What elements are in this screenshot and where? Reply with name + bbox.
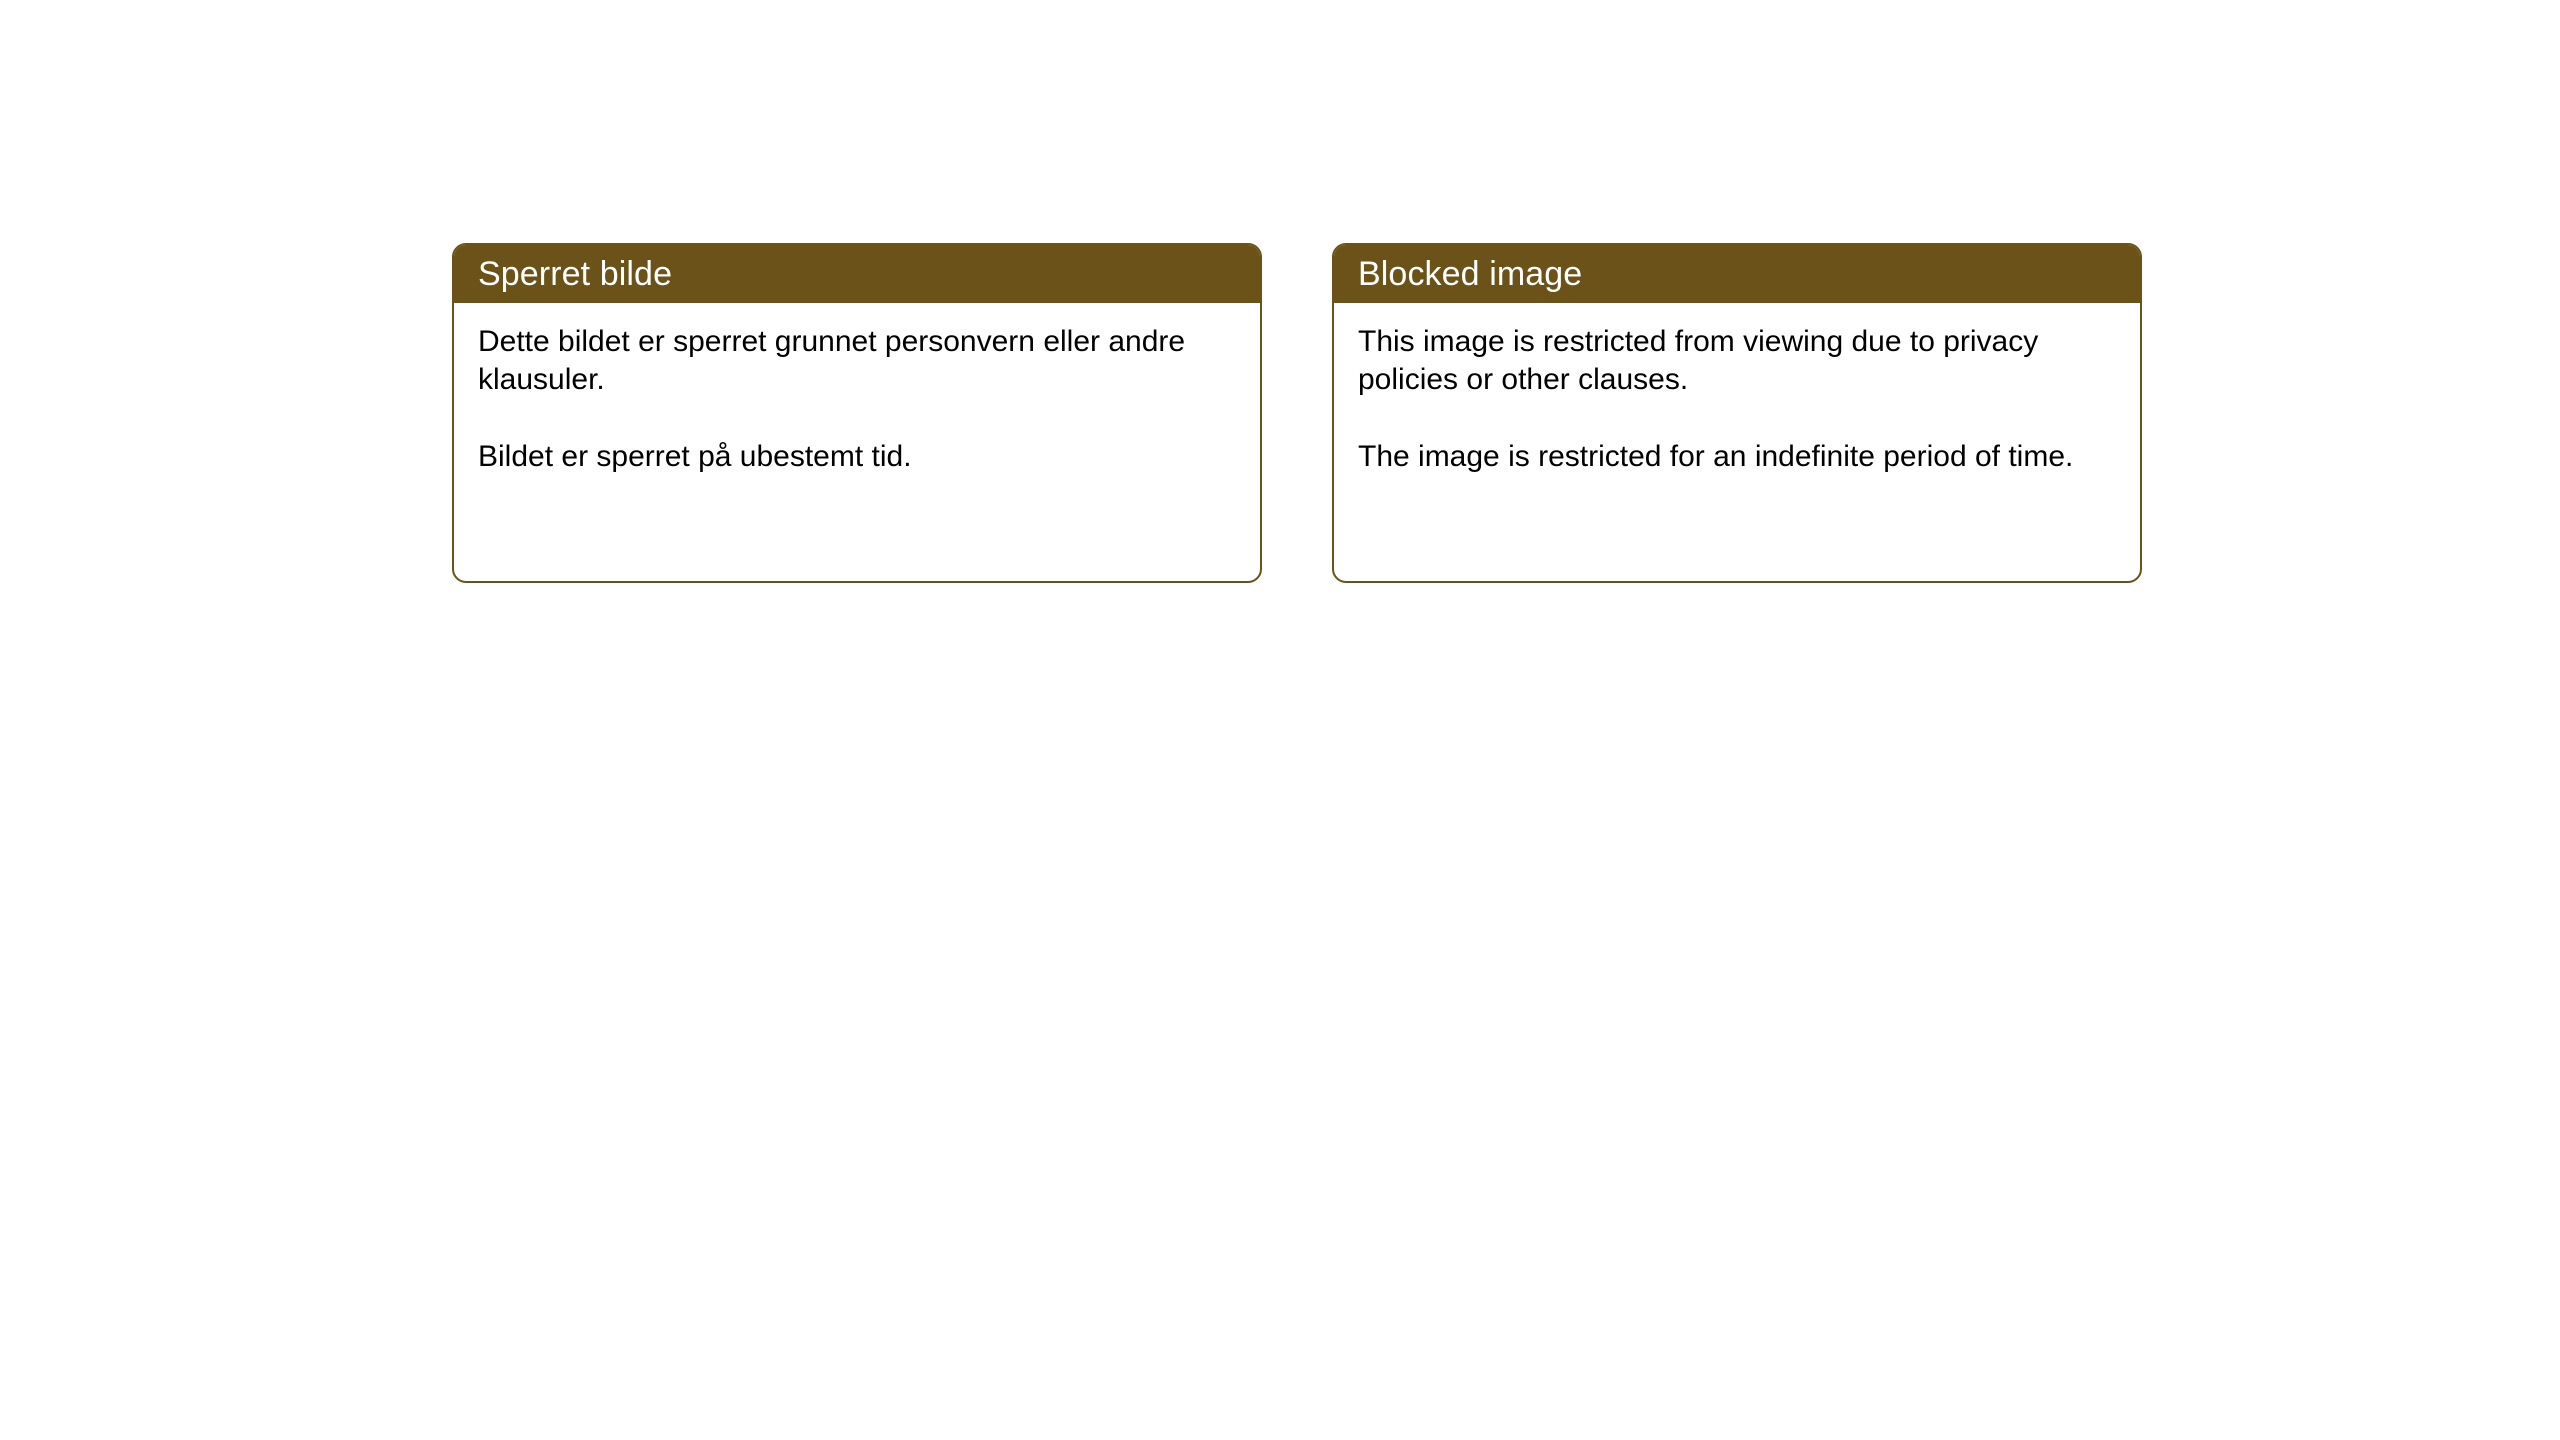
- notice-card-paragraph-reason-no: Dette bildet er sperret grunnet personve…: [478, 323, 1208, 400]
- notice-card-header-en: Blocked image: [1334, 245, 2140, 303]
- blocked-image-notice-card-no: Sperret bilde Dette bildet er sperret gr…: [452, 243, 1262, 583]
- notice-card-title-no: Sperret bilde: [478, 257, 672, 291]
- notice-card-title-en: Blocked image: [1358, 257, 1582, 291]
- blocked-image-notice-card-en: Blocked image This image is restricted f…: [1332, 243, 2142, 583]
- notice-card-body-no: Dette bildet er sperret grunnet personve…: [454, 303, 1260, 581]
- notice-card-body-en: This image is restricted from viewing du…: [1334, 303, 2140, 581]
- notice-card-header-no: Sperret bilde: [454, 245, 1260, 303]
- notice-card-paragraph-duration-no: Bildet er sperret på ubestemt tid.: [478, 438, 1208, 476]
- notice-card-deck: Sperret bilde Dette bildet er sperret gr…: [452, 243, 2142, 583]
- notice-card-paragraph-reason-en: This image is restricted from viewing du…: [1358, 323, 2088, 400]
- notice-card-paragraph-duration-en: The image is restricted for an indefinit…: [1358, 438, 2088, 476]
